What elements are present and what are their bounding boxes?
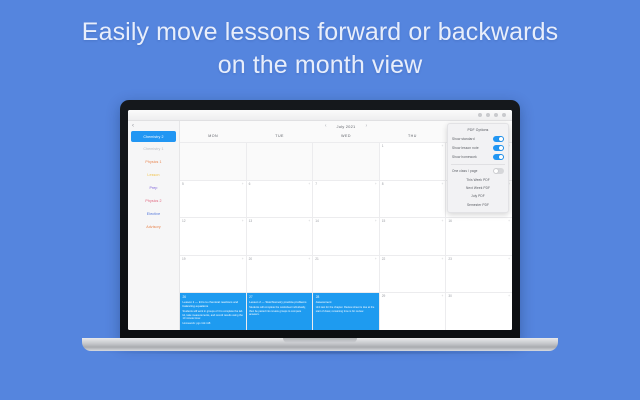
day-number: 22 [382,257,386,261]
app-body: ‹ Chemistry 2Chemistry 1Physics 1LessonP… [128,121,512,330]
window-dot-1[interactable] [478,113,482,117]
pdf-toggle-row[interactable]: Show lesson note [448,144,508,153]
pdf-toggle-label: Show lesson note [452,146,479,150]
day-cell[interactable] [313,143,379,180]
day-cell[interactable] [180,143,246,180]
pdf-toggle-label: Show homework [452,155,477,159]
lesson-event-card[interactable]: 28AssessmentUnit test for the chapter. R… [313,293,379,330]
weekday-label-wed: WED [313,131,379,142]
day-cell[interactable]: 1+ [380,143,446,180]
day-cell[interactable]: 14+ [313,218,379,255]
day-cell[interactable]: 22+ [380,256,446,293]
week-row-4: 26Lesson 1 — Intro to chemical reactions… [180,293,512,330]
day-cell[interactable]: 16+ [446,218,512,255]
day-cell[interactable]: 26Lesson 1 — Intro to chemical reactions… [180,293,246,330]
day-cell[interactable]: 7+ [313,181,379,218]
add-lesson-icon[interactable]: + [308,219,310,223]
day-cell[interactable]: 5+ [180,181,246,218]
sidebar-item-label: Lesson [147,173,159,177]
pdf-toggle-list: Show standardShow lesson noteShow homewo… [448,135,508,162]
add-lesson-icon[interactable]: + [442,219,444,223]
pdf-action-item[interactable]: July PDF [448,192,508,200]
pdf-toggle-row[interactable]: Show homework [448,153,508,162]
window-dot-3[interactable] [494,113,498,117]
toggle-switch[interactable] [493,154,504,160]
sidebar-item-3[interactable]: Lesson [128,168,179,181]
event-date-number: 26 [183,295,244,299]
event-title: Lesson 1 — Intro to chemical reactions a… [183,301,244,309]
day-number: 6 [249,182,251,186]
laptop-screen: ‹ Chemistry 2Chemistry 1Physics 1LessonP… [128,110,512,330]
day-cell[interactable]: 20+ [247,256,313,293]
laptop-base [82,338,558,351]
day-cell[interactable]: 21+ [313,256,379,293]
pdf-options-panel: PDF Options Show standardShow lesson not… [447,123,509,213]
promo-screenshot: Easily move lessons forward or backwards… [0,0,640,400]
pdf-options-title: PDF Options [448,127,508,135]
calendar-area: ‹ July 2021 › MONTUEWEDTHUFRI 1+2+5+6+7+… [180,121,512,330]
sidebar-item-5[interactable]: Physics 2 [128,194,179,207]
sidebar-item-label: Chemistry 1 [143,147,163,151]
event-footer: Homework: pgs 112-118 [183,322,244,325]
add-lesson-icon[interactable]: + [375,182,377,186]
day-number: 12 [182,219,186,223]
day-cell[interactable]: 29+ [380,293,446,330]
event-date-number: 28 [316,295,377,299]
window-dot-4[interactable] [502,113,506,117]
add-lesson-icon[interactable]: + [442,294,444,298]
sidebar-item-label: Physics 1 [145,160,161,164]
sidebar-item-0[interactable]: Chemistry 2 [131,131,176,142]
sidebar-item-label: Advisory [146,225,161,229]
add-lesson-icon[interactable]: + [308,182,310,186]
toggle-switch[interactable] [493,168,504,174]
toggle-switch[interactable] [493,136,504,142]
sidebar: ‹ Chemistry 2Chemistry 1Physics 1LessonP… [128,121,180,330]
pdf-action-item[interactable]: Semester PDF [448,201,508,209]
headline-line-2: on the month view [0,49,640,82]
sidebar-item-1[interactable]: Chemistry 1 [128,142,179,155]
day-number: 20 [249,257,253,261]
add-lesson-icon[interactable]: + [442,182,444,186]
lesson-event-card[interactable]: 26Lesson 1 — Intro to chemical reactions… [180,293,246,330]
add-lesson-icon[interactable]: + [242,219,244,223]
lesson-event-card[interactable]: 27Lesson 2 — Stoichiometry practice prob… [247,293,313,330]
laptop-lid: ‹ Chemistry 2Chemistry 1Physics 1LessonP… [120,100,520,342]
add-lesson-icon[interactable]: + [242,257,244,261]
add-lesson-icon[interactable]: + [375,219,377,223]
day-number: 15 [382,219,386,223]
sidebar-class-list: Chemistry 2Chemistry 1Physics 1LessonPre… [128,131,179,233]
day-cell[interactable] [247,143,313,180]
weekday-label-mon: MON [180,131,246,142]
prev-month-button[interactable]: ‹ [325,123,327,129]
day-number: 30 [448,294,452,298]
day-cell[interactable]: 15+ [380,218,446,255]
month-label: July 2021 [337,124,356,129]
event-body: Students will work in groups of 3 to com… [183,310,244,321]
add-lesson-icon[interactable]: + [308,257,310,261]
day-number: 5 [182,182,184,186]
laptop-mockup: ‹ Chemistry 2Chemistry 1Physics 1LessonP… [120,100,520,362]
event-body: Students will complete the worksheet ind… [249,306,310,317]
toggle-switch[interactable] [493,145,504,151]
pdf-action-item[interactable]: Next Week PDF [448,184,508,192]
week-row-3: 19+20+21+22+23+ [180,256,512,293]
pdf-toggle-label: Show standard [452,137,475,141]
panel-divider [451,164,505,165]
pdf-toggle-row[interactable]: Show standard [448,135,508,144]
day-number: 16 [448,219,452,223]
day-cell[interactable]: 30+ [446,293,512,330]
day-number: 1 [382,144,384,148]
week-row-2: 12+13+14+15+16+ [180,218,512,255]
back-chevron-icon[interactable]: ‹ [132,123,134,129]
add-lesson-icon[interactable]: + [442,257,444,261]
sidebar-item-2[interactable]: Physics 1 [128,155,179,168]
sidebar-item-6[interactable]: Elective [128,207,179,220]
weekday-label-tue: TUE [246,131,312,142]
event-title: Lesson 2 — Stoichiometry practice proble… [249,301,310,305]
page-title: Easily move lessons forward or backwards… [0,16,640,82]
event-date-number: 27 [249,295,310,299]
next-month-button[interactable]: › [365,123,367,129]
day-number: 23 [448,257,452,261]
day-cell[interactable]: 28AssessmentUnit test for the chapter. R… [313,293,379,330]
day-cell[interactable]: 6+ [247,181,313,218]
day-cell[interactable]: 13+ [247,218,313,255]
add-lesson-icon[interactable]: + [375,257,377,261]
sidebar-item-label: Elective [147,212,160,216]
add-lesson-icon[interactable]: + [508,257,510,261]
event-title: Assessment [316,301,377,305]
day-number: 13 [249,219,253,223]
day-cell[interactable]: 12+ [180,218,246,255]
window-titlebar [128,110,512,121]
day-number: 14 [315,219,319,223]
sidebar-item-label: Prep [150,186,158,190]
day-cell[interactable]: 19+ [180,256,246,293]
day-number: 7 [315,182,317,186]
pdf-action-item[interactable]: This Week PDF [448,176,508,184]
day-number: 8 [382,182,384,186]
add-lesson-icon[interactable]: + [442,144,444,148]
window-dot-2[interactable] [486,113,490,117]
sidebar-item-7[interactable]: Advisory [128,220,179,233]
sidebar-item-4[interactable]: Prep [128,181,179,194]
day-cell[interactable]: 8+ [380,181,446,218]
weekday-label-thu: THU [379,131,445,142]
pdf-action-list: One class / pageThis Week PDFNext Week P… [448,167,508,210]
day-cell[interactable]: 23+ [446,256,512,293]
add-lesson-icon[interactable]: + [242,182,244,186]
day-number: 19 [182,257,186,261]
headline-line-1: Easily move lessons forward or backwards [82,18,558,46]
day-number: 29 [382,294,386,298]
sidebar-header: ‹ [128,121,179,131]
one-class-per-page-label: One class / page [452,169,478,173]
one-class-per-page-row[interactable]: One class / page [448,167,508,176]
add-lesson-icon[interactable]: + [508,219,510,223]
day-number: 21 [315,257,319,261]
sidebar-item-label: Physics 2 [145,199,161,203]
sidebar-item-label: Chemistry 2 [143,135,163,139]
day-cell[interactable]: 27Lesson 2 — Stoichiometry practice prob… [247,293,313,330]
add-lesson-icon[interactable]: + [508,294,510,298]
event-body: Unit test for the chapter. Review sheet … [316,306,377,313]
